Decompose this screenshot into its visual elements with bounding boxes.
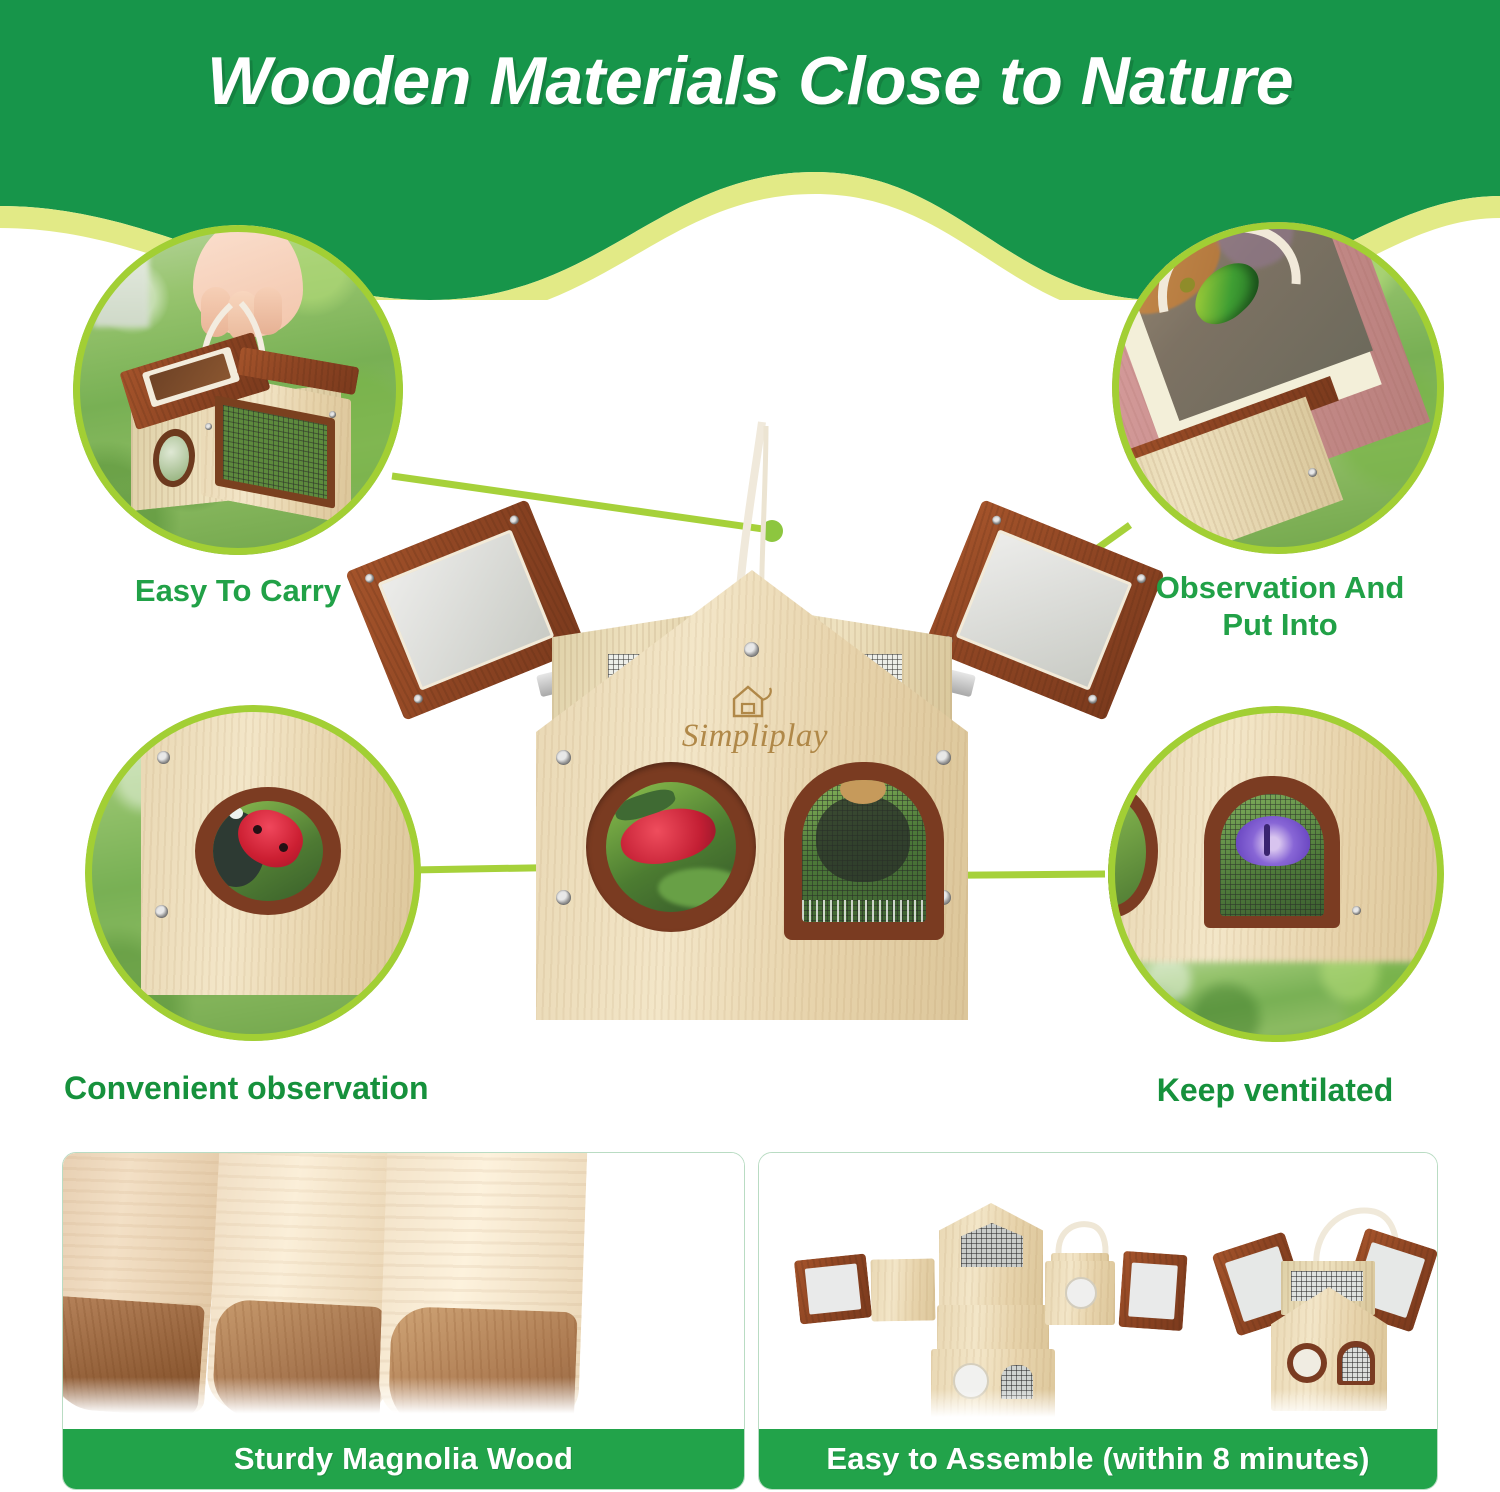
caption-keep-ventilated: Keep ventilated: [1080, 1072, 1470, 1110]
panel-easy-to-assemble: Easy to Assemble (within 8 minutes): [758, 1152, 1438, 1490]
assembly-photo: [759, 1153, 1437, 1429]
panel-label-magnolia: Sturdy Magnolia Wood: [234, 1441, 573, 1477]
keep-ventilated-photo: [1108, 706, 1444, 1042]
circle-ring: [1108, 706, 1444, 1042]
caption-convenient-observation: Convenient observation: [64, 1070, 444, 1108]
caption-easy-to-carry: Easy To Carry: [55, 573, 421, 610]
page-title: Wooden Materials Close to Nature: [0, 42, 1500, 120]
magnolia-wood-photo: [63, 1153, 744, 1429]
panel-sturdy-magnolia-wood: Sturdy Magnolia Wood: [62, 1152, 745, 1490]
easy-to-carry-photo: [73, 225, 403, 555]
hero-lens-glass: [606, 782, 736, 912]
callout-keep-ventilated: [1108, 706, 1444, 1042]
circle-ring: [73, 225, 403, 555]
callout-convenient-observation: [85, 705, 421, 1041]
observation-and-put-into-photo: [1112, 222, 1444, 554]
convenient-observation-photo: [85, 705, 421, 1041]
brand-name: Simpliplay: [360, 718, 1150, 755]
callout-observation-and-put-into: Observation And Put Into: [1112, 222, 1444, 554]
infographic-page: Wooden Materials Close to Nature: [0, 0, 1500, 1492]
panel-label-bar-assemble: Easy to Assemble (within 8 minutes): [759, 1429, 1437, 1489]
panel-label-assemble: Easy to Assemble (within 8 minutes): [826, 1441, 1369, 1477]
hero-product: Simpliplay: [360, 420, 1150, 1020]
circle-ring: [1112, 222, 1444, 554]
caption-observation-and-put-into: Observation And Put Into: [1104, 570, 1456, 643]
house-icon: [728, 682, 778, 722]
circle-ring: [85, 705, 421, 1041]
callout-easy-to-carry: Easy To Carry: [73, 225, 403, 555]
panel-label-bar-magnolia: Sturdy Magnolia Wood: [63, 1429, 744, 1489]
hero-vent-mesh: [802, 780, 926, 922]
